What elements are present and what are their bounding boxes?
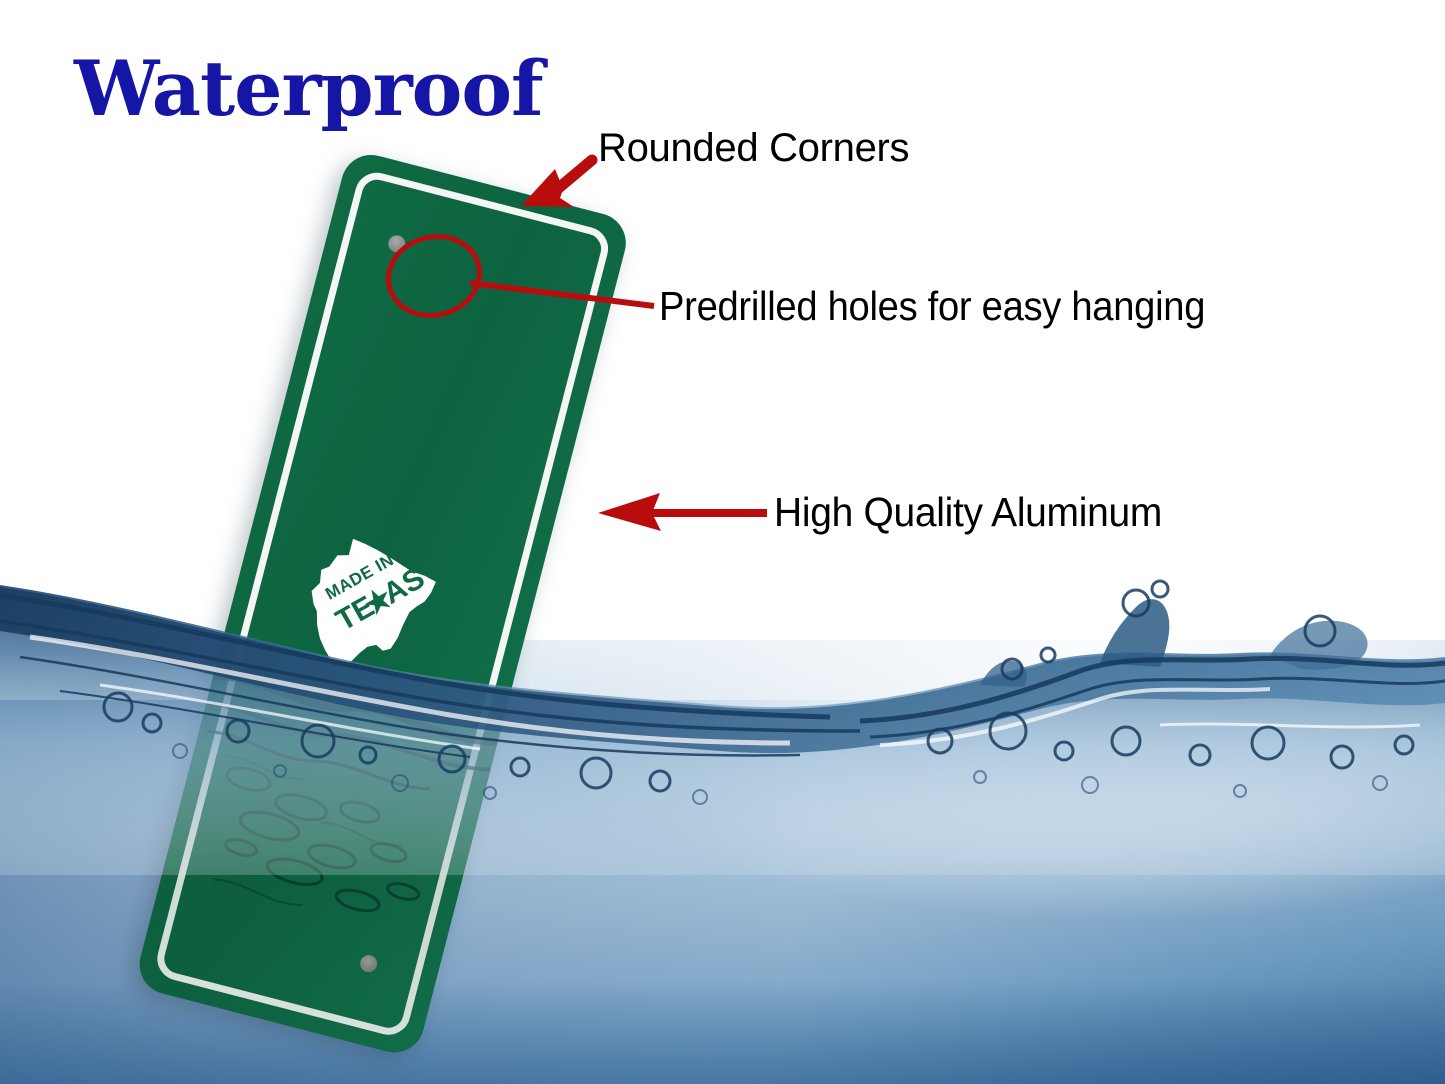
annotation-label-rounded-corners: Rounded Corners [598, 126, 909, 171]
annotation-label-high-quality-aluminum: High Quality Aluminum [774, 489, 1162, 536]
annotation-label-predrilled-holes: Predrilled holes for easy hanging [659, 283, 1205, 330]
water-splash [0, 545, 1445, 875]
high-quality-aluminum-arrow-icon [598, 493, 767, 531]
infographic-canvas: MADE IN TE ★ AS [0, 0, 1445, 1084]
page-title: Waterproof [74, 44, 543, 133]
